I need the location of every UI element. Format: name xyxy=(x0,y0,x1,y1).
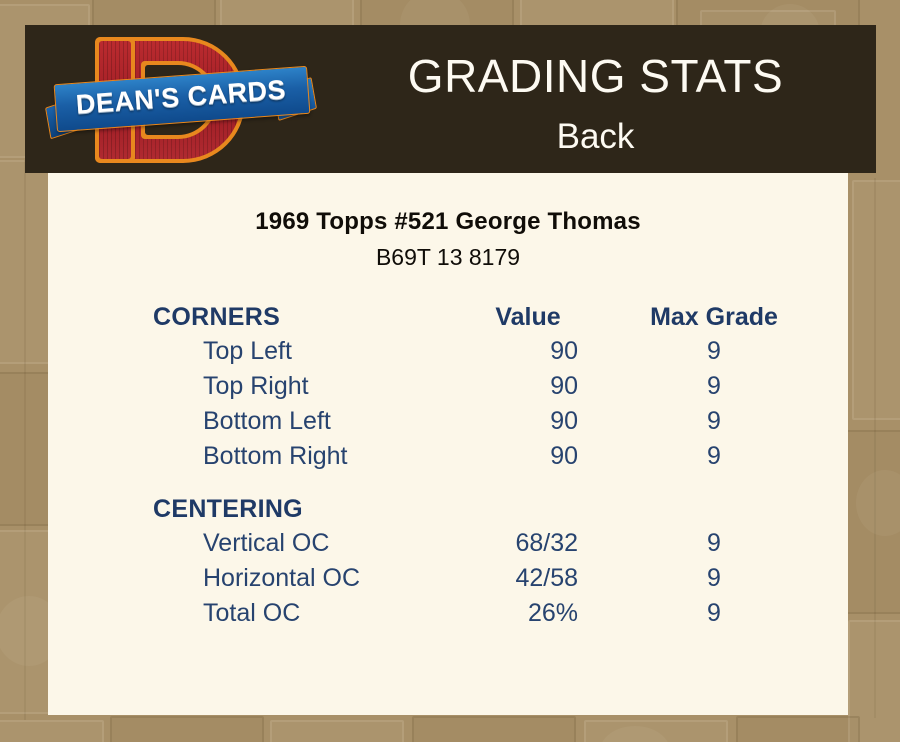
row-value: 26% xyxy=(448,599,578,628)
table-row: Bottom Right 90 9 xyxy=(48,442,848,477)
row-value: 90 xyxy=(448,407,578,436)
section-header-centering: CENTERING xyxy=(48,495,848,529)
row-value: 90 xyxy=(448,337,578,366)
row-label: Bottom Right xyxy=(203,442,348,471)
grading-stats-table: CORNERS Value Max Grade Top Left 90 9 To… xyxy=(48,303,848,634)
row-label: Top Right xyxy=(203,372,309,401)
row-label: Top Left xyxy=(203,337,292,366)
content-panel: 1969 Topps #521 George Thomas B69T 13 81… xyxy=(48,173,848,715)
column-header-max-grade: Max Grade xyxy=(614,303,814,332)
section-header-corners: CORNERS Value Max Grade xyxy=(48,303,848,337)
page-title: GRADING STATS xyxy=(315,51,876,101)
table-row: Bottom Left 90 9 xyxy=(48,407,848,442)
row-max-grade: 9 xyxy=(614,372,814,401)
column-header-value: Value xyxy=(448,303,608,332)
page-subtitle: Back xyxy=(315,117,876,157)
table-row: Top Left 90 9 xyxy=(48,337,848,372)
table-row: Total OC 26% 9 xyxy=(48,599,848,634)
row-label: Horizontal OC xyxy=(203,564,360,593)
logo-ribbon-icon: DEAN'S CARDS xyxy=(47,71,315,133)
row-max-grade: 9 xyxy=(614,529,814,558)
deans-cards-logo: DEAN'S CARDS xyxy=(47,33,315,165)
row-max-grade: 9 xyxy=(614,442,814,471)
row-value: 68/32 xyxy=(448,529,578,558)
row-value: 90 xyxy=(448,372,578,401)
card-serial: B69T 13 8179 xyxy=(48,244,848,271)
grading-stats-page: DEAN'S CARDS GRADING STATS Back 1969 Top… xyxy=(0,0,900,742)
row-max-grade: 9 xyxy=(614,407,814,436)
table-row: Horizontal OC 42/58 9 xyxy=(48,564,848,599)
table-row: Vertical OC 68/32 9 xyxy=(48,529,848,564)
header-band: DEAN'S CARDS GRADING STATS Back xyxy=(25,25,876,173)
row-value: 42/58 xyxy=(448,564,578,593)
section-title-centering: CENTERING xyxy=(48,495,848,524)
table-row: Top Right 90 9 xyxy=(48,372,848,407)
row-value: 90 xyxy=(448,442,578,471)
row-label: Bottom Left xyxy=(203,407,331,436)
row-max-grade: 9 xyxy=(614,564,814,593)
row-max-grade: 9 xyxy=(614,599,814,628)
row-label: Total OC xyxy=(203,599,300,628)
row-label: Vertical OC xyxy=(203,529,329,558)
card-title: 1969 Topps #521 George Thomas xyxy=(48,208,848,236)
row-max-grade: 9 xyxy=(614,337,814,366)
